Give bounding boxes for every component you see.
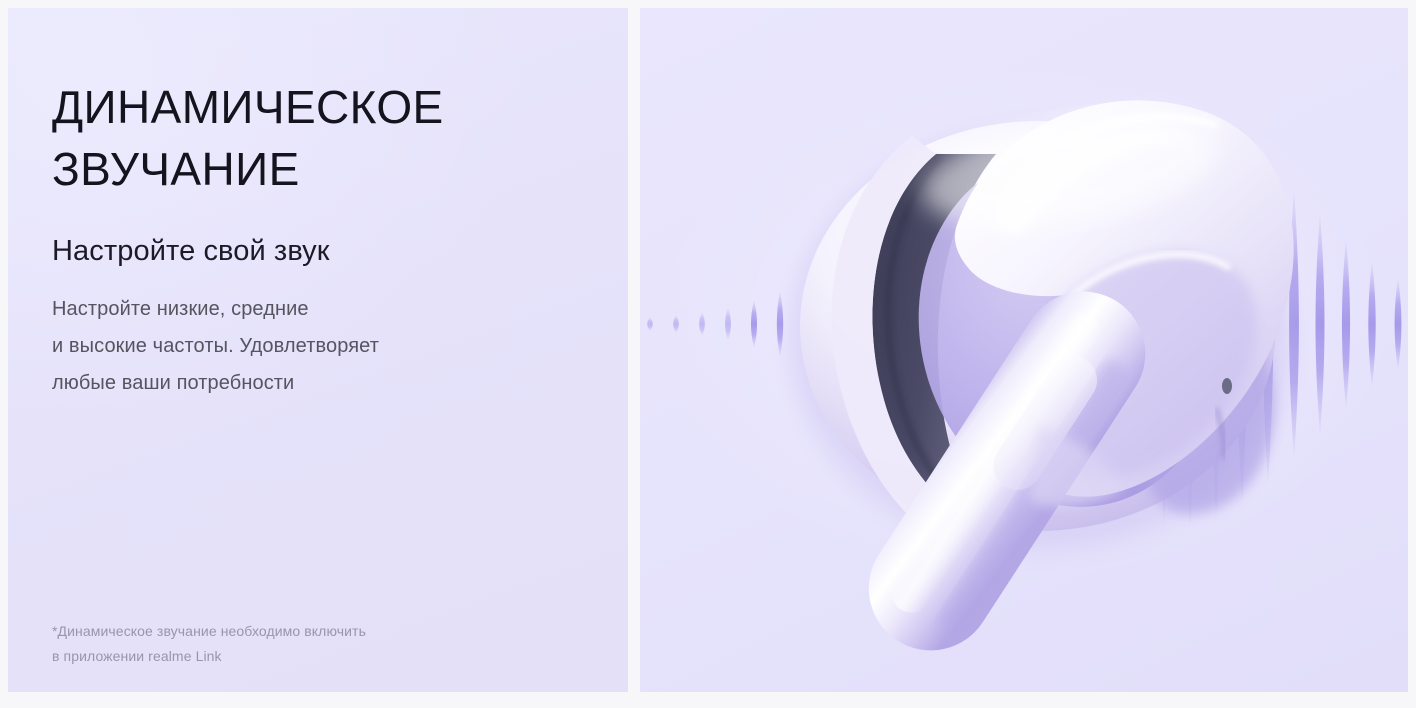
waveform-bar xyxy=(1342,239,1350,409)
waveform-bar xyxy=(1316,214,1325,434)
waveform-bar xyxy=(777,291,783,357)
body-description: Настройте низкие, средние и высокие част… xyxy=(52,291,522,402)
waveform-bar xyxy=(1368,261,1375,387)
waveform-bar xyxy=(751,300,757,348)
page-title: ДИНАМИЧЕСКОЕ ЗВУЧАНИЕ xyxy=(52,76,572,200)
earbud-illustration xyxy=(790,95,1294,674)
waveform-bar xyxy=(699,312,705,336)
waveform-bar xyxy=(725,307,731,341)
waveform-bar xyxy=(1395,278,1402,370)
product-image-panel xyxy=(640,8,1408,692)
waveform-bar xyxy=(647,317,652,331)
earbud-hero-image xyxy=(640,8,1408,692)
footnote-disclaimer: *Динамическое звучание необходимо включи… xyxy=(52,619,522,669)
waveform-bar xyxy=(673,315,679,333)
subheadline: Настройте свой звук xyxy=(52,232,330,270)
page-root: ДИНАМИЧЕСКОЕ ЗВУЧАНИЕ Настройте свой зву… xyxy=(0,0,1416,708)
text-panel: ДИНАМИЧЕСКОЕ ЗВУЧАНИЕ Настройте свой зву… xyxy=(8,8,628,692)
